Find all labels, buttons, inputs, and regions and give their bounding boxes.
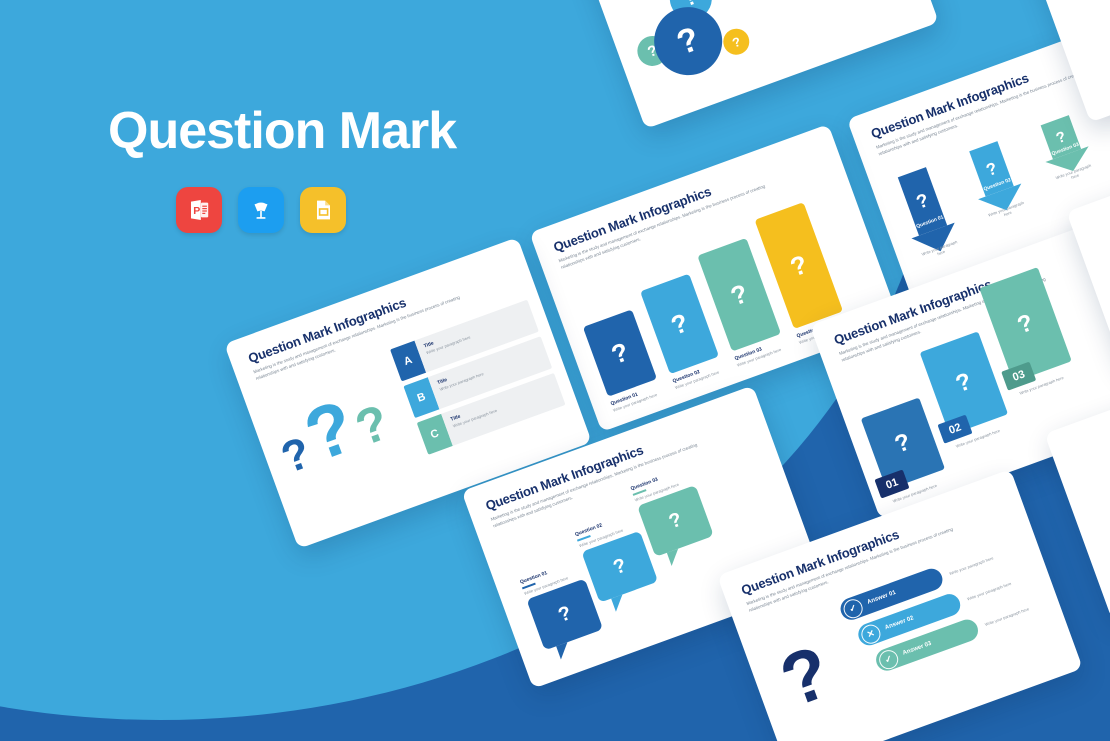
close-icon: ✕ — [859, 622, 883, 646]
question-glyph: ? — [1014, 311, 1036, 339]
answer-label: Answer 02 — [884, 615, 914, 631]
svg-text:P: P — [193, 205, 200, 217]
answer-label: Answer 03 — [902, 641, 932, 657]
poster-stage: Question Mark P — [0, 0, 1110, 741]
question-glyph: ? — [727, 279, 751, 309]
question-glyph: ? — [953, 369, 975, 397]
question-glyph: ? — [556, 603, 574, 626]
keynote-icon[interactable] — [238, 187, 284, 233]
panel-item: ? 01 Write your paragraph here — [861, 397, 951, 504]
panel-item: ? 02 Write your paragraph here — [920, 331, 1014, 449]
powerpoint-icon[interactable]: P — [176, 187, 222, 233]
check-icon: ✓ — [841, 596, 865, 620]
google-slides-icon[interactable] — [300, 187, 346, 233]
page-title: Question Mark — [108, 104, 568, 159]
question-glyph: ? — [914, 191, 931, 213]
question-glyph: ? — [1054, 129, 1068, 146]
hero-block: Question Mark P — [108, 104, 568, 233]
answer-body: Write your paragraph here — [966, 581, 1012, 602]
question-circle: ? — [720, 25, 753, 58]
question-glyph: ? — [787, 250, 811, 280]
check-icon: ✓ — [876, 647, 900, 671]
app-format-icons: P — [176, 187, 568, 233]
question-glyph: ? — [666, 509, 684, 532]
answer-body: Write your paragraph here — [949, 555, 995, 576]
answer-body: Write your paragraph here — [984, 606, 1030, 627]
question-glyph: ? — [984, 159, 1000, 179]
question-mark-art: ? ? ? — [269, 383, 393, 476]
arrow-item: ? Question 01 Write your paragraph here — [890, 164, 964, 263]
question-circle: ? — [645, 0, 732, 85]
arrow-item: ? Question 02 Write your paragraph here — [962, 138, 1031, 224]
big-question-glyph: ? — [774, 642, 836, 712]
question-glyph: ? — [608, 338, 632, 368]
question-glyph: ? — [668, 309, 692, 339]
question-glyph: ? — [892, 430, 914, 458]
answer-label: Answer 01 — [867, 590, 897, 606]
question-glyph: ? — [611, 555, 629, 578]
arrow-item: ? Question 03 Write your paragraph here — [1033, 112, 1098, 187]
